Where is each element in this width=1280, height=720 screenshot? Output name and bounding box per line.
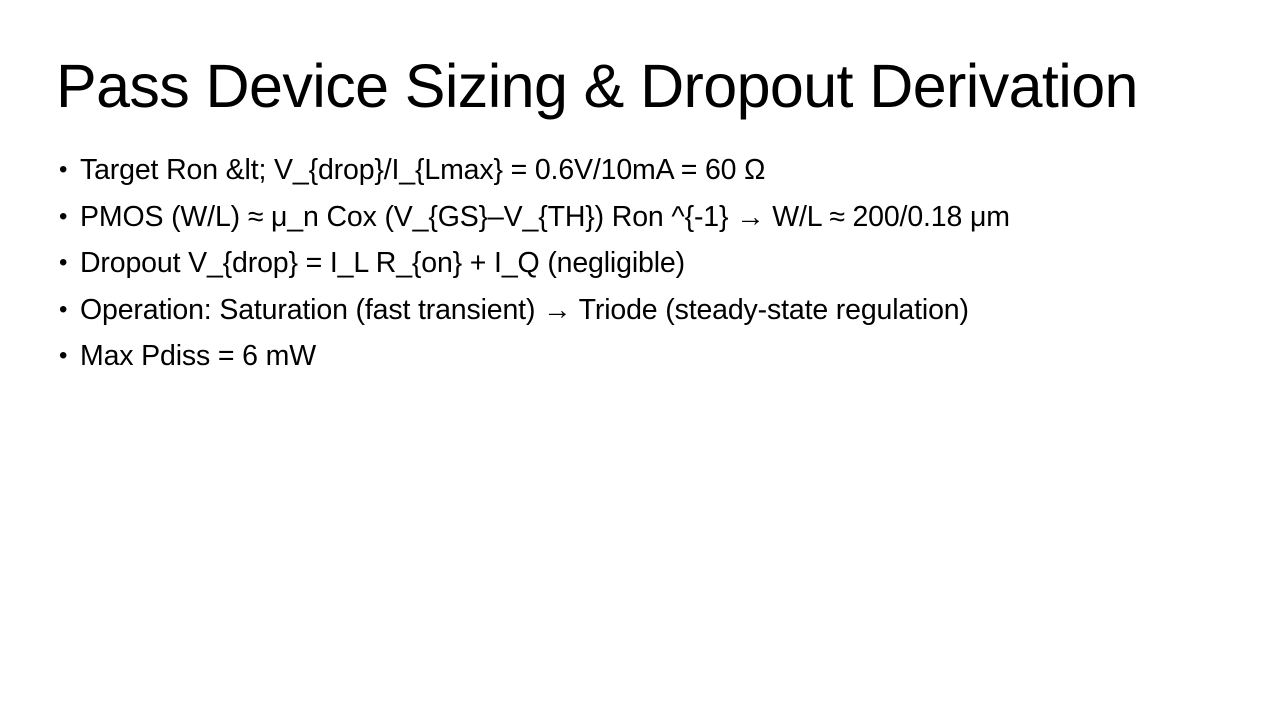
list-item: • Operation: Saturation (fast transient)… xyxy=(57,287,1237,334)
bullet-dot-icon: • xyxy=(59,194,77,241)
list-item-label: Target Ron &lt; V_{drop}/I_{Lmax} = 0.6V… xyxy=(80,147,765,194)
bullet-list: • Target Ron &lt; V_{drop}/I_{Lmax} = 0.… xyxy=(57,147,1237,380)
list-item: • Dropout V_{drop} = I_L R_{on} + I_Q (n… xyxy=(57,240,1237,287)
page-title: Pass Device Sizing & Dropout Derivation xyxy=(56,52,1224,120)
list-item-label: Max Pdiss = 6 mW xyxy=(80,333,316,380)
bullet-dot-icon: • xyxy=(59,333,77,380)
bullet-dot-icon: • xyxy=(59,240,77,287)
list-item-label: Operation: Saturation (fast transient) →… xyxy=(80,287,969,334)
bullet-dot-icon: • xyxy=(59,287,77,334)
list-item-label: Dropout V_{drop} = I_L R_{on} + I_Q (neg… xyxy=(80,240,685,287)
slide-canvas: Pass Device Sizing & Dropout Derivation … xyxy=(0,0,1280,720)
list-item: • Max Pdiss = 6 mW xyxy=(57,333,1237,380)
bullet-dot-icon: • xyxy=(59,147,77,194)
list-item: • Target Ron &lt; V_{drop}/I_{Lmax} = 0.… xyxy=(57,147,1237,194)
list-item: • PMOS (W/L) ≈ μ_n Cox (V_{GS}–V_{TH}) R… xyxy=(57,194,1237,241)
list-item-label: PMOS (W/L) ≈ μ_n Cox (V_{GS}–V_{TH}) Ron… xyxy=(80,194,1010,241)
